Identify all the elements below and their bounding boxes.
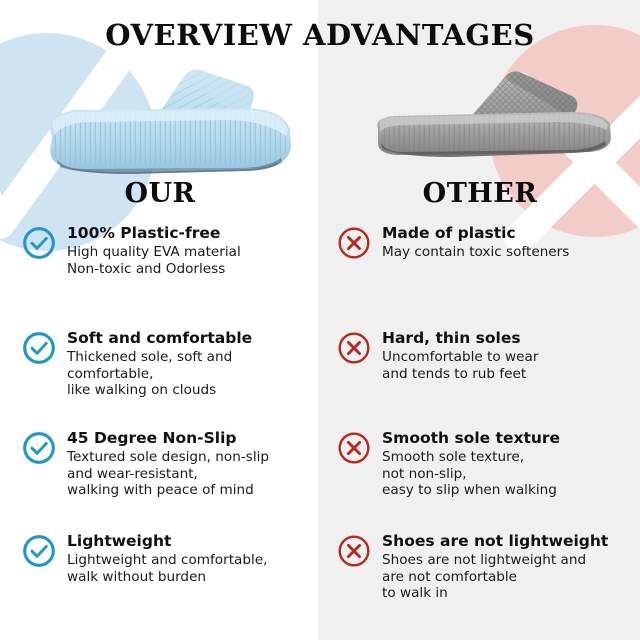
feature-desc-line: walk without burden [67, 569, 318, 586]
feature-description: Lightweight and comfortable, walk withou… [67, 552, 318, 585]
our-feature-row-2: Soft and comfortable Thickened sole, sof… [22, 329, 318, 399]
x-circle-icon [337, 431, 371, 465]
our-feature-row-4: Lightweight Lightweight and comfortable,… [22, 532, 318, 585]
feature-desc-line: Lightweight and comfortable, [67, 552, 318, 569]
feature-description: Shoes are not lightweight and are not co… [382, 552, 637, 602]
our-feature-text-1: 100% Plastic-free High quality EVA mater… [67, 224, 318, 277]
other-feature-row-4: Shoes are not lightweight Shoes are not … [337, 532, 637, 602]
feature-desc-line: Smooth sole texture, [382, 449, 637, 466]
check-circle-icon [22, 431, 56, 465]
our-feature-text-4: Lightweight Lightweight and comfortable,… [67, 532, 318, 585]
feature-desc-line: Thickened sole, soft and [67, 349, 318, 366]
blue-slipper-photo [34, 58, 300, 183]
feature-description: Smooth sole texture, not non-slip, easy … [382, 449, 637, 499]
other-feature-row-1: Made of plastic May contain toxic soften… [337, 224, 637, 261]
x-circle-icon [337, 226, 371, 260]
feature-title: Hard, thin soles [382, 329, 637, 348]
x-circle-icon [337, 331, 371, 365]
feature-title: Shoes are not lightweight [382, 532, 637, 551]
feature-title: Lightweight [67, 532, 318, 551]
feature-desc-line: like walking on clouds [67, 382, 318, 399]
feature-desc-line: Shoes are not lightweight and [382, 552, 637, 569]
feature-description: Textured sole design, non-slip and wear-… [67, 449, 318, 499]
feature-desc-line: Textured sole design, non-slip [67, 449, 318, 466]
feature-description: High quality EVA material Non-toxic and … [67, 244, 318, 277]
feature-desc-line: walking with peace of mind [67, 482, 318, 499]
other-feature-row-3: Smooth sole texture Smooth sole texture,… [337, 429, 637, 499]
feature-desc-line: Uncomfortable to wear [382, 349, 637, 366]
grey-slipper-photo [368, 62, 618, 178]
other-feature-text-4: Shoes are not lightweight Shoes are not … [382, 532, 637, 602]
other-feature-text-3: Smooth sole texture Smooth sole texture,… [382, 429, 637, 499]
our-feature-text-3: 45 Degree Non-Slip Textured sole design,… [67, 429, 318, 499]
other-feature-text-1: Made of plastic May contain toxic soften… [382, 224, 637, 261]
feature-description: Thickened sole, soft and comfortable, li… [67, 349, 318, 399]
our-feature-row-3: 45 Degree Non-Slip Textured sole design,… [22, 429, 318, 499]
our-column-label: OUR [100, 178, 220, 209]
feature-desc-line: to walk in [382, 585, 637, 602]
feature-desc-line: comfortable, [67, 366, 318, 383]
other-feature-text-2: Hard, thin soles Uncomfortable to wear a… [382, 329, 637, 382]
feature-description: Uncomfortable to wear and tends to rub f… [382, 349, 637, 382]
feature-desc-line: are not comfortable [382, 569, 637, 586]
feature-desc-line: and wear-resistant, [67, 466, 318, 483]
feature-description: May contain toxic softeners [382, 244, 637, 261]
check-circle-icon [22, 534, 56, 568]
feature-desc-line: and tends to rub feet [382, 366, 637, 383]
feature-title: Made of plastic [382, 224, 637, 243]
feature-desc-line: not non-slip, [382, 466, 637, 483]
feature-title: 45 Degree Non-Slip [67, 429, 318, 448]
page-title: OVERVIEW ADVANTAGES [0, 18, 640, 52]
feature-desc-line: easy to slip when walking [382, 482, 637, 499]
infographic-canvas: OVERVIEW ADVANTAGES [0, 0, 640, 640]
feature-desc-line: May contain toxic softeners [382, 244, 637, 261]
x-circle-icon [337, 534, 371, 568]
feature-title: Smooth sole texture [382, 429, 637, 448]
our-feature-row-1: 100% Plastic-free High quality EVA mater… [22, 224, 318, 277]
check-circle-icon [22, 226, 56, 260]
feature-desc-line: High quality EVA material [67, 244, 318, 261]
feature-title: 100% Plastic-free [67, 224, 318, 243]
check-circle-icon [22, 331, 56, 365]
our-feature-text-2: Soft and comfortable Thickened sole, sof… [67, 329, 318, 399]
feature-desc-line: Non-toxic and Odorless [67, 261, 318, 278]
other-column-label: OTHER [400, 178, 560, 209]
other-feature-row-2: Hard, thin soles Uncomfortable to wear a… [337, 329, 637, 382]
feature-title: Soft and comfortable [67, 329, 318, 348]
